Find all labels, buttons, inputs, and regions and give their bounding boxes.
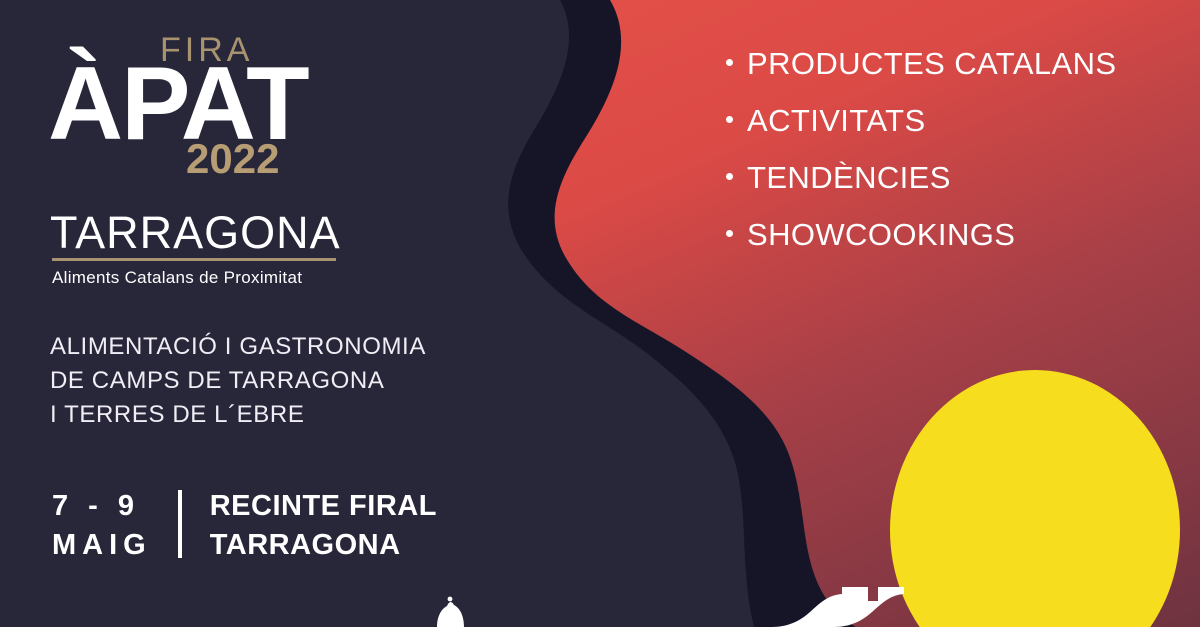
list-item: TENDÈNCIES — [726, 162, 1117, 193]
description-line-2: DE CAMPS DE TARRAGONA — [50, 364, 426, 398]
highlight-label: ACTIVITATS — [747, 105, 926, 136]
bullet-dot-icon — [726, 116, 733, 123]
event-description: ALIMENTACIÓ I GASTRONOMIA DE CAMPS DE TA… — [50, 330, 426, 432]
event-details-row: 7 - 9 MAIG RECINTE FIRAL TARRAGONA — [52, 487, 437, 564]
list-item: SHOWCOOKINGS — [726, 219, 1117, 250]
highlight-label: TENDÈNCIES — [747, 162, 951, 193]
event-venue-line-1: RECINTE FIRAL — [210, 487, 437, 526]
partner-logo-left-cropped — [437, 597, 464, 627]
logo-city: TARRAGONA — [50, 210, 341, 255]
highlight-label: SHOWCOOKINGS — [747, 219, 1015, 250]
description-line-3: I TERRES DE L´EBRE — [50, 398, 426, 432]
bullet-dot-icon — [726, 230, 733, 237]
bullet-dot-icon — [726, 59, 733, 66]
partner-logo-right-cropped — [772, 587, 904, 627]
description-line-1: ALIMENTACIÓ I GASTRONOMIA — [50, 330, 426, 364]
bullet-dot-icon — [726, 173, 733, 180]
event-date: 7 - 9 MAIG — [52, 487, 178, 564]
partner-logos-strip — [0, 587, 1200, 627]
event-date-line-1: 7 - 9 — [52, 487, 152, 526]
logo-tagline: Aliments Catalans de Proximitat — [52, 268, 302, 288]
highlights-list: PRODUCTES CATALANS ACTIVITATS TENDÈNCIES… — [726, 48, 1117, 276]
logo-divider-rule — [52, 258, 336, 261]
logo-year: 2022 — [186, 138, 279, 180]
event-venue-line-2: TARRAGONA — [210, 526, 437, 565]
promotional-poster: FIRA ÀPAT 2022 TARRAGONA Aliments Catala… — [0, 0, 1200, 627]
highlight-label: PRODUCTES CATALANS — [747, 48, 1117, 79]
event-date-line-2: MAIG — [52, 526, 152, 565]
left-content-column: FIRA ÀPAT 2022 TARRAGONA Aliments Catala… — [0, 0, 540, 627]
event-venue: RECINTE FIRAL TARRAGONA — [182, 487, 437, 564]
list-item: PRODUCTES CATALANS — [726, 48, 1117, 79]
list-item: ACTIVITATS — [726, 105, 1117, 136]
